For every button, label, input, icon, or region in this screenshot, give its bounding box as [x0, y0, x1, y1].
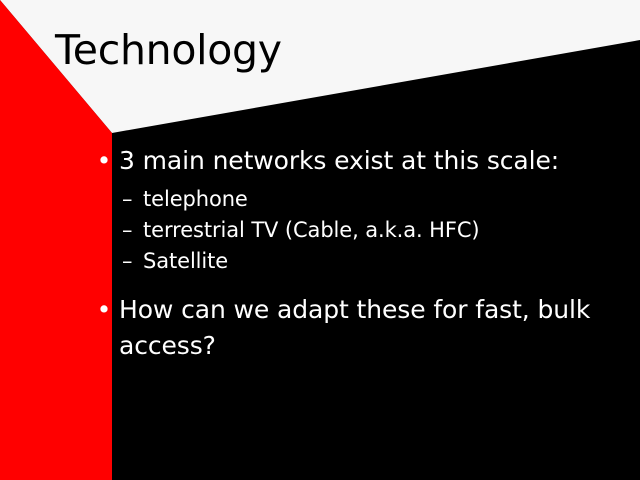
en-dash-bullet-icon: –: [122, 246, 139, 277]
bullet-text: 3 main networks exist at this scale:: [119, 143, 608, 179]
bullet-item-level1: • 3 main networks exist at this scale:: [88, 143, 608, 179]
bullet-text: terrestrial TV (Cable, a.k.a. HFC): [143, 215, 602, 246]
bullet-text: How can we adapt these for fast, bulk ac…: [119, 292, 608, 364]
en-dash-bullet-icon: –: [122, 184, 139, 215]
bullet-text: Satellite: [143, 246, 602, 277]
en-dash-bullet-icon: –: [122, 215, 139, 246]
bullet-text: telephone: [143, 184, 602, 215]
presentation-slide: Technology • 3 main networks exist at th…: [0, 0, 640, 480]
bullet-item-level2: – Satellite: [122, 246, 602, 277]
bullet-item-level1: • How can we adapt these for fast, bulk …: [88, 292, 608, 364]
bullet-item-level2: – telephone: [122, 184, 602, 215]
filled-circle-bullet-icon: •: [93, 143, 115, 179]
slide-body: • 3 main networks exist at this scale: –…: [0, 0, 640, 480]
bullet-item-level2: – terrestrial TV (Cable, a.k.a. HFC): [122, 215, 602, 246]
filled-circle-bullet-icon: •: [93, 292, 115, 328]
